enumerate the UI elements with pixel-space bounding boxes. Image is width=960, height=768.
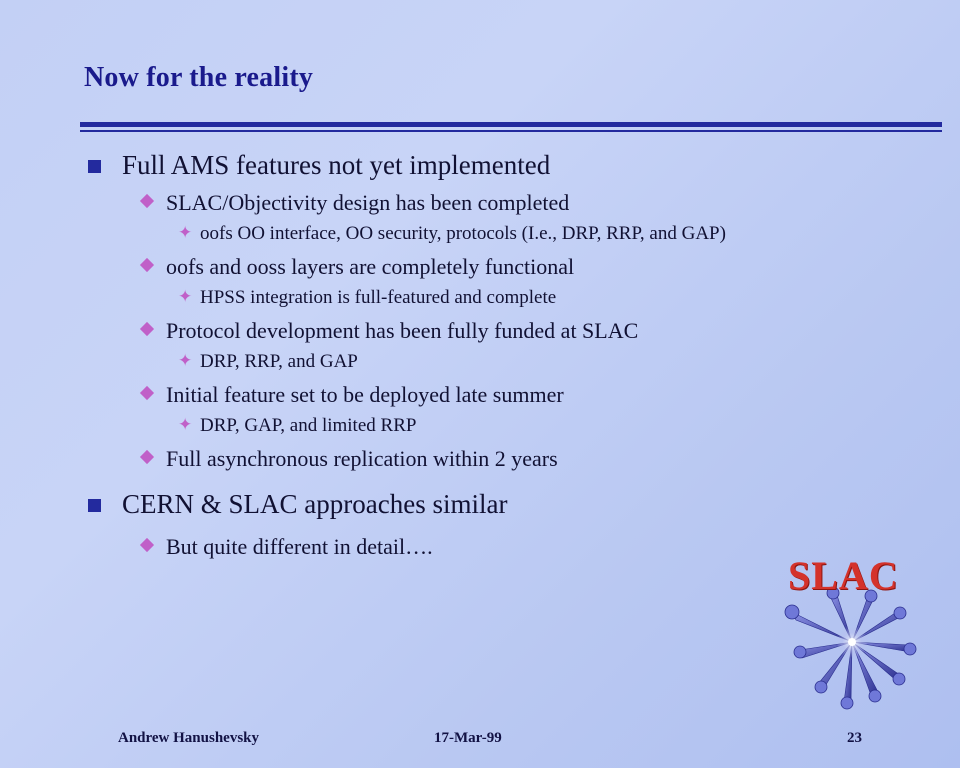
- list-item: Protocol development has been fully fund…: [80, 316, 940, 345]
- diamond-bullet-icon: [140, 194, 154, 208]
- list-item-label: SLAC/Objectivity design has been complet…: [166, 190, 569, 215]
- square-bullet-icon: [88, 160, 101, 173]
- list-item: ✦ DRP, GAP, and limited RRP: [80, 413, 940, 439]
- footer-page-number: 23: [847, 730, 862, 747]
- slide: Now for the reality Full AMS features no…: [0, 0, 960, 768]
- list-item: ✦ HPSS integration is full-featured and …: [80, 285, 940, 311]
- diamond-bullet-icon: [140, 322, 154, 336]
- list-item-label: Full asynchronous replication within 2 y…: [166, 446, 558, 471]
- list-item-label: oofs and ooss layers are completely func…: [166, 254, 574, 279]
- diamond-bullet-icon: [140, 450, 154, 464]
- list-item: Initial feature set to be deployed late …: [80, 380, 940, 409]
- square-bullet-icon: [88, 499, 101, 512]
- diamond-bullet-icon: [140, 538, 154, 552]
- list-item-label: DRP, GAP, and limited RRP: [200, 415, 416, 436]
- list-item-label: CERN & SLAC approaches similar: [122, 489, 507, 519]
- list-item-label: HPSS integration is full-featured and co…: [200, 287, 556, 308]
- slac-starburst-icon: [778, 580, 938, 720]
- list-item-label: oofs OO interface, OO security, protocol…: [200, 223, 726, 244]
- list-item-label: Initial feature set to be deployed late …: [166, 382, 564, 407]
- title-divider: [80, 122, 942, 132]
- list-item-label: DRP, RRP, and GAP: [200, 351, 358, 372]
- list-item: Full AMS features not yet implemented: [80, 148, 940, 183]
- slide-footer: Andrew Hanushevsky 17-Mar-99 23: [0, 730, 960, 750]
- slide-body: Now for the reality Full AMS features no…: [0, 0, 960, 768]
- divider-thick-line: [80, 122, 942, 127]
- four-point-star-bullet-icon: ✦: [178, 350, 192, 373]
- footer-author: Andrew Hanushevsky: [118, 730, 259, 747]
- bullet-list: Full AMS features not yet implemented SL…: [80, 148, 940, 561]
- list-item: CERN & SLAC approaches similar: [80, 487, 940, 522]
- diamond-bullet-icon: [140, 258, 154, 272]
- list-item: ✦ DRP, RRP, and GAP: [80, 349, 940, 375]
- slac-wordmark: SLAC: [788, 552, 899, 599]
- four-point-star-bullet-icon: ✦: [178, 414, 192, 437]
- divider-thin-line: [80, 130, 942, 132]
- page-title: Now for the reality: [84, 62, 313, 94]
- diamond-bullet-icon: [140, 386, 154, 400]
- list-item-label: But quite different in detail….: [166, 534, 433, 559]
- list-item: Full asynchronous replication within 2 y…: [80, 444, 940, 473]
- list-item-label: Full AMS features not yet implemented: [122, 150, 550, 180]
- four-point-star-bullet-icon: ✦: [178, 222, 192, 245]
- list-item: SLAC/Objectivity design has been complet…: [80, 188, 940, 217]
- list-item-label: Protocol development has been fully fund…: [166, 318, 638, 343]
- slac-logo: SLAC: [778, 552, 938, 722]
- list-item: ✦ oofs OO interface, OO security, protoc…: [80, 221, 940, 247]
- footer-date: 17-Mar-99: [434, 730, 502, 747]
- four-point-star-bullet-icon: ✦: [178, 286, 192, 309]
- list-item: oofs and ooss layers are completely func…: [80, 252, 940, 281]
